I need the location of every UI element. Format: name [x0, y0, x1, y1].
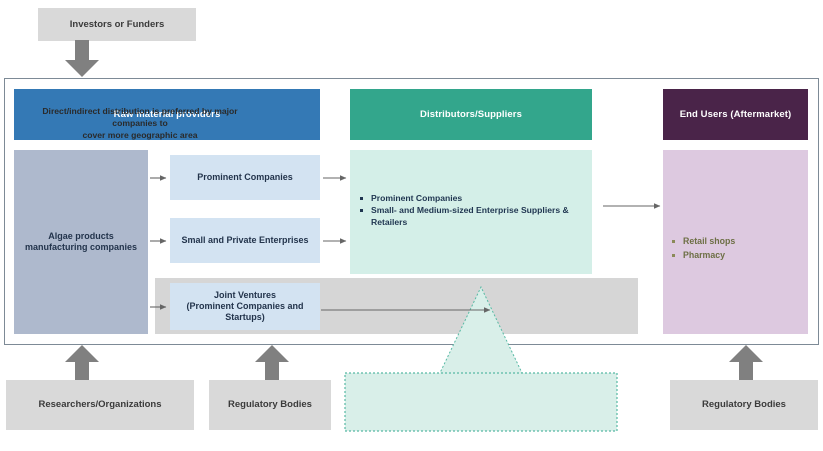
distributor-items-list: Prominent Companies Small- and Medium-si… [360, 193, 585, 229]
algae-node-line-2: manufacturing companies [25, 242, 137, 253]
value-chain-diagram: Investors or Funders Raw material provid… [0, 0, 823, 451]
callout-line-2: cover more geographic area [20, 129, 260, 141]
arrow-up-researchers [62, 344, 102, 382]
node-small-private-label: Small and Private Enterprises [181, 235, 308, 246]
node-prominent-companies-label: Prominent Companies [197, 172, 293, 183]
list-item: Prominent Companies [360, 193, 585, 204]
list-item: Small- and Medium-sized Enterprise Suppl… [360, 205, 585, 228]
node-prominent-companies[interactable]: Prominent Companies [170, 155, 320, 200]
column-header-label: Distributors/Suppliers [420, 109, 522, 121]
list-item-line-1: Small- and Medium-sized Enterprise Suppl… [371, 205, 569, 215]
list-item-line-2: Retailers [371, 217, 585, 228]
node-small-and-private-enterprises[interactable]: Small and Private Enterprises [170, 218, 320, 263]
joint-ventures-line-1: Joint Ventures [186, 290, 303, 301]
node-algae-products-manufacturing-companies[interactable]: Algae products manufacturing companies [14, 150, 148, 334]
algae-node-line-1: Algae products [25, 231, 137, 242]
arrow-down-investors [62, 40, 102, 78]
node-investors-or-funders[interactable]: Investors or Funders [38, 8, 196, 41]
node-researchers-label: Researchers/Organizations [38, 399, 161, 411]
callout-line-1: Direct/indirect distribution is preferre… [20, 105, 260, 129]
node-researchers-organizations[interactable]: Researchers/Organizations [6, 380, 194, 430]
callout-distribution-note [341, 283, 621, 433]
node-investors-label: Investors or Funders [70, 19, 165, 31]
callout-text: Direct/indirect distribution is preferre… [20, 105, 260, 141]
node-regulatory-right-label: Regulatory Bodies [702, 399, 786, 411]
node-regulatory-bodies-left[interactable]: Regulatory Bodies [209, 380, 331, 430]
list-item: Pharmacy [672, 249, 792, 262]
joint-ventures-line-3: Startups) [186, 312, 303, 323]
list-item: Retail shops [672, 235, 792, 248]
column-header-label: End Users (Aftermarket) [680, 109, 792, 121]
arrow-up-regulatory-right [726, 344, 766, 382]
joint-ventures-line-2: (Prominent Companies and [186, 301, 303, 312]
node-joint-ventures[interactable]: Joint Ventures (Prominent Companies and … [170, 283, 320, 330]
column-header-distributors-suppliers[interactable]: Distributors/Suppliers [350, 89, 592, 140]
node-regulatory-left-label: Regulatory Bodies [228, 399, 312, 411]
arrow-up-regulatory-left [252, 344, 292, 382]
end-user-items-list: Retail shops Pharmacy [672, 235, 792, 263]
column-header-end-users-aftermarket[interactable]: End Users (Aftermarket) [663, 89, 808, 140]
node-regulatory-bodies-right[interactable]: Regulatory Bodies [670, 380, 818, 430]
